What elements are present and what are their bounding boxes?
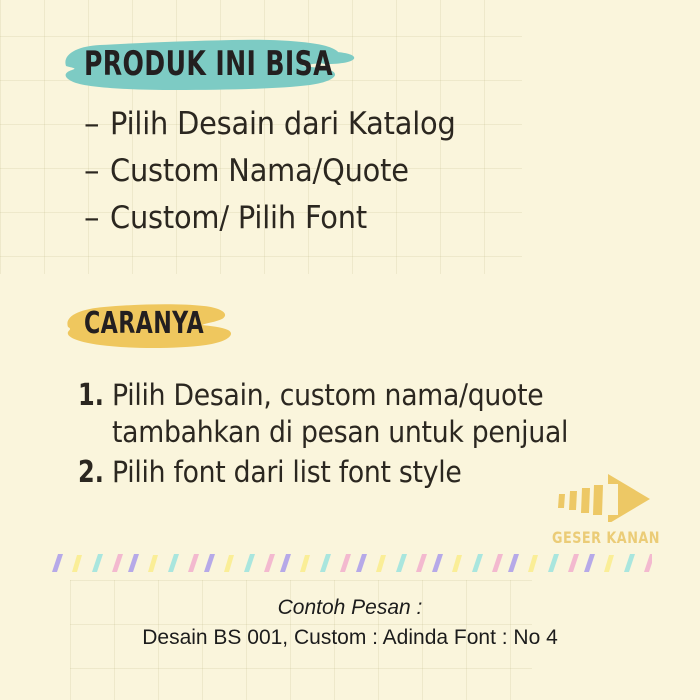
step-number: 2. [78, 455, 105, 490]
list-item: – Custom/ Pilih Font [84, 200, 554, 247]
dash-bullet: – [84, 153, 110, 189]
example-body: Desain BS 001, Custom : Adinda Font : No… [0, 622, 700, 654]
swipe-caption: GESER KANAN [552, 528, 660, 547]
list-item: – Custom Nama/Quote [84, 153, 554, 200]
features-list: – Pilih Desain dari Katalog – Custom Nam… [84, 106, 554, 247]
step-number: 1. [78, 378, 105, 413]
example-message: Contoh Pesan : Desain BS 001, Custom : A… [0, 594, 700, 654]
list-item-label: Custom/ Pilih Font [110, 200, 367, 236]
list-item: – Pilih Desain dari Katalog [84, 106, 554, 153]
step-item: 1. Pilih Desain, custom nama/quote [78, 378, 638, 413]
features-heading: PRODUK INI BISA [84, 44, 333, 84]
arrow-right-icon [556, 472, 652, 526]
list-item-label: Pilih Desain dari Katalog [110, 106, 456, 142]
poster-canvas: PRODUK INI BISA – Pilih Desain dari Kata… [0, 0, 700, 700]
dash-bullet: – [84, 106, 110, 142]
step-item: 2. Pilih font dari list font style [78, 455, 638, 490]
example-title: Contoh Pesan : [0, 594, 700, 622]
dash-bullet: – [84, 200, 110, 236]
step-label: Pilih Desain, custom nama/quote [112, 378, 543, 412]
confetti-divider [52, 552, 652, 582]
howto-heading: CARANYA [84, 306, 204, 341]
list-item-label: Custom Nama/Quote [110, 153, 409, 189]
howto-steps: 1. Pilih Desain, custom nama/quote tamba… [78, 378, 638, 490]
step-label: Pilih font dari list font style [112, 455, 462, 489]
step-label-continued: tambahkan di pesan untuk penjual [112, 415, 596, 449]
